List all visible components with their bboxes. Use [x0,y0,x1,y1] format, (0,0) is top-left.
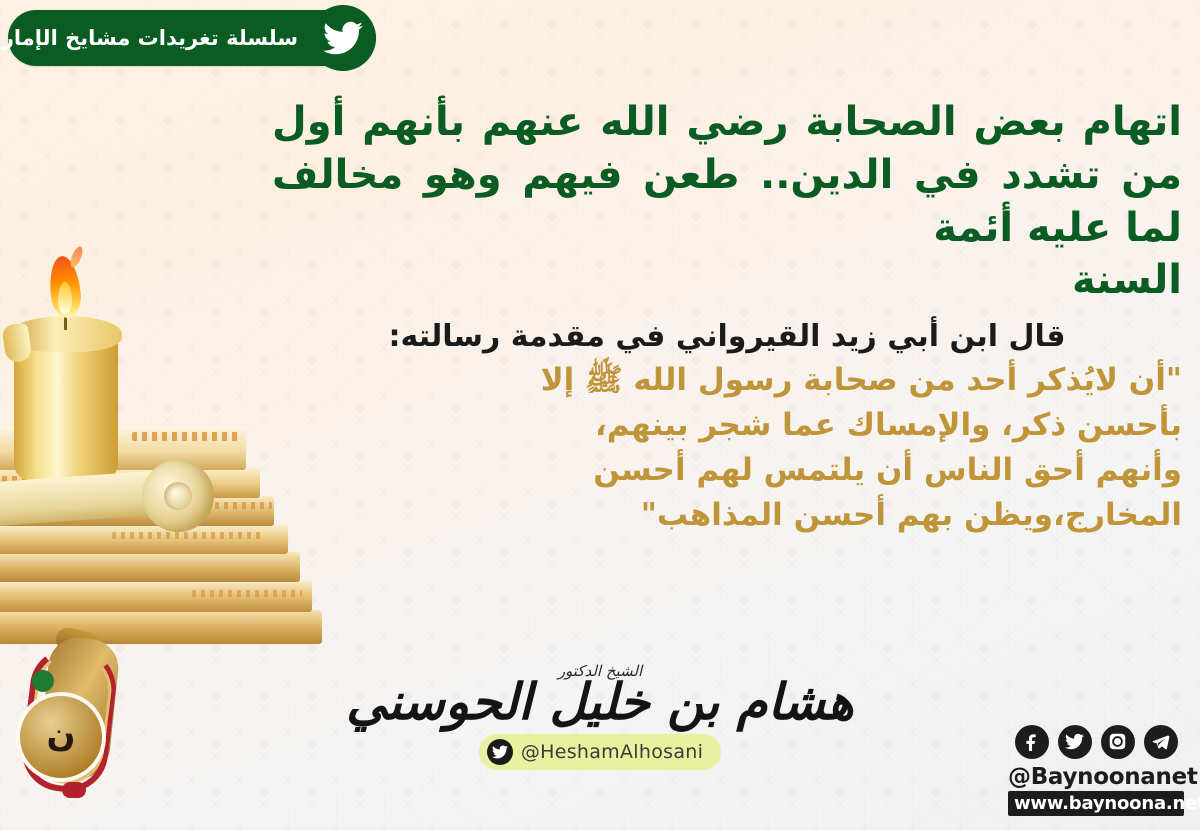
footer-social-block: @Baynoonanet www.baynoona.net [1008,725,1184,816]
brand-handle: @Baynoonanet [1008,765,1184,789]
twitter-handle-text: @HeshamAlhosani [521,741,703,763]
headline-line-1: اتهام بعض الصحابة رضي الله عنهم [482,99,1182,145]
twitter-handle-pill[interactable]: @HeshamAlhosani [479,734,721,770]
quote-line-2: بأحسن ذكر، والإمساك عما شجر بينهم، [272,403,1182,448]
quote-card: سلسلة تغريدات مشايخ الإمارات [0,0,1200,830]
twitter-icon[interactable] [1058,725,1092,759]
book-stack-layer [0,524,288,554]
twitter-bird-icon [487,739,513,765]
website-url[interactable]: www.baynoona.net [1008,791,1184,816]
headline-line-4: السنة [272,254,1182,307]
attribution-line: قال ابن أبي زيد القيرواني في مقدمة رسالت… [272,317,1182,356]
headline: اتهام بعض الصحابة رضي الله عنهم بأنهم أو… [272,96,1182,307]
logo-bottom-bead [62,782,86,798]
quote-line-3: وأنهم أحق الناس أن يلتمس لهم أحسن [272,448,1182,493]
signature-name: هشام بن خليل الحوسني [0,674,1200,732]
candle-flame-core [58,282,72,314]
telegram-icon[interactable] [1144,725,1178,759]
social-icon-row [1008,725,1184,759]
candle-flame-spark [68,245,85,269]
book-edge-ornament [112,532,262,539]
header-banner: سلسلة تغريدات مشايخ الإمارات [8,10,376,66]
facebook-icon[interactable] [1015,725,1049,759]
quote-line-1: "أن لايُذكر أحد من صحابة رسول الله ﷺ إلا [272,358,1182,403]
quote-block: "أن لايُذكر أحد من صحابة رسول الله ﷺ إلا… [272,358,1182,538]
banner-label: سلسلة تغريدات مشايخ الإمارات [0,26,298,50]
book-stack-layer [0,552,300,582]
quote-line-4: المخارج،ويظن بهم أحسن المذاهب" [272,493,1182,538]
book-edge-ornament [132,432,240,441]
book-edge-ornament [192,590,302,597]
twitter-bird-icon [310,5,376,71]
text-content: اتهام بعض الصحابة رضي الله عنهم بأنهم أو… [272,96,1182,538]
instagram-icon[interactable] [1101,725,1135,759]
